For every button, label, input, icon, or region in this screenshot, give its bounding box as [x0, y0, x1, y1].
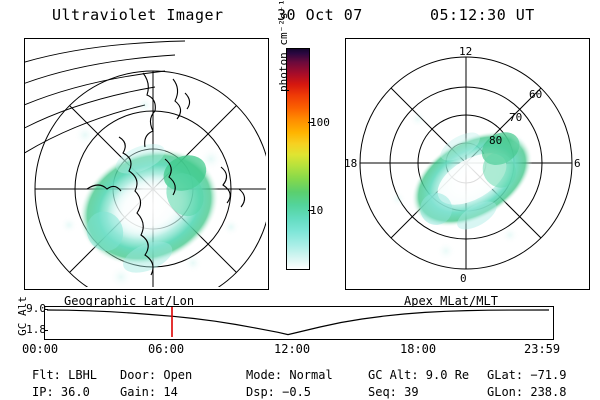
ip-value: IP: 36.0	[32, 385, 90, 399]
geo-aurora-emission	[60, 96, 240, 287]
observation-time: 05:12:30 UT	[430, 6, 535, 24]
strip-chart-frame	[44, 306, 554, 340]
mlt-label-12: 12	[459, 45, 472, 58]
strip-y-axis-title: GC Alt	[16, 286, 29, 346]
strip-chart-plot	[45, 307, 551, 337]
gc-altitude-strip-chart: 9.0 1.8 GC Alt 00:00 06:00 12:00 18:00 2…	[44, 306, 552, 338]
door-value: Door: Open	[120, 368, 192, 382]
dsp-value: Dsp: −0.5	[246, 385, 311, 399]
x-tick-label-0600: 06:00	[148, 342, 184, 356]
geographic-plot	[25, 39, 266, 287]
uvi-summary-plot: Ultraviolet Imager 30 Oct 07 05:12:30 UT	[0, 0, 600, 400]
colorbar-tick-100: 100	[310, 116, 330, 129]
y-tick-label-18: 1.8	[26, 323, 46, 336]
x-tick-label-1200: 12:00	[274, 342, 310, 356]
mlt-label-18: 18	[346, 157, 357, 170]
mode-value: Mode: Normal	[246, 368, 333, 382]
glon-value: GLon: 238.8	[487, 385, 566, 399]
mlat-label-70: 70	[509, 111, 522, 124]
apex-image-panel: 12 18 6 0 60 70 80	[345, 38, 590, 290]
x-tick-label-2359: 23:59	[524, 342, 560, 356]
seq-value: Seq: 39	[368, 385, 419, 399]
x-tick-label-0000: 00:00	[22, 342, 58, 356]
x-tick-label-1800: 18:00	[400, 342, 436, 356]
geographic-image-panel	[24, 38, 269, 290]
mlt-label-6: 6	[574, 157, 581, 170]
filter-value: Flt: LBHL	[32, 368, 97, 382]
gc-alt-value: GC Alt: 9.0 Re	[368, 368, 469, 382]
gain-value: Gain: 14	[120, 385, 178, 399]
mlat-label-80: 80	[489, 134, 502, 147]
colorbar-block: 100 10 photon cm⁻²s⁻¹	[286, 48, 332, 280]
colorbar-tick-10: 10	[310, 204, 323, 217]
apex-aurora-emission	[390, 108, 551, 261]
y-tick-label-90: 9.0	[26, 302, 46, 315]
mlt-label-0: 0	[460, 272, 467, 285]
glat-value: GLat: −71.9	[487, 368, 566, 382]
instrument-title: Ultraviolet Imager	[52, 6, 224, 24]
mlat-label-60: 60	[529, 88, 542, 101]
apex-plot: 12 18 6 0 60 70 80	[346, 39, 587, 287]
gc-alt-trace	[47, 310, 549, 335]
colorbar-axis-title: photon cm⁻²s⁻¹	[277, 0, 290, 92]
header: Ultraviolet Imager 30 Oct 07 05:12:30 UT	[0, 6, 600, 28]
